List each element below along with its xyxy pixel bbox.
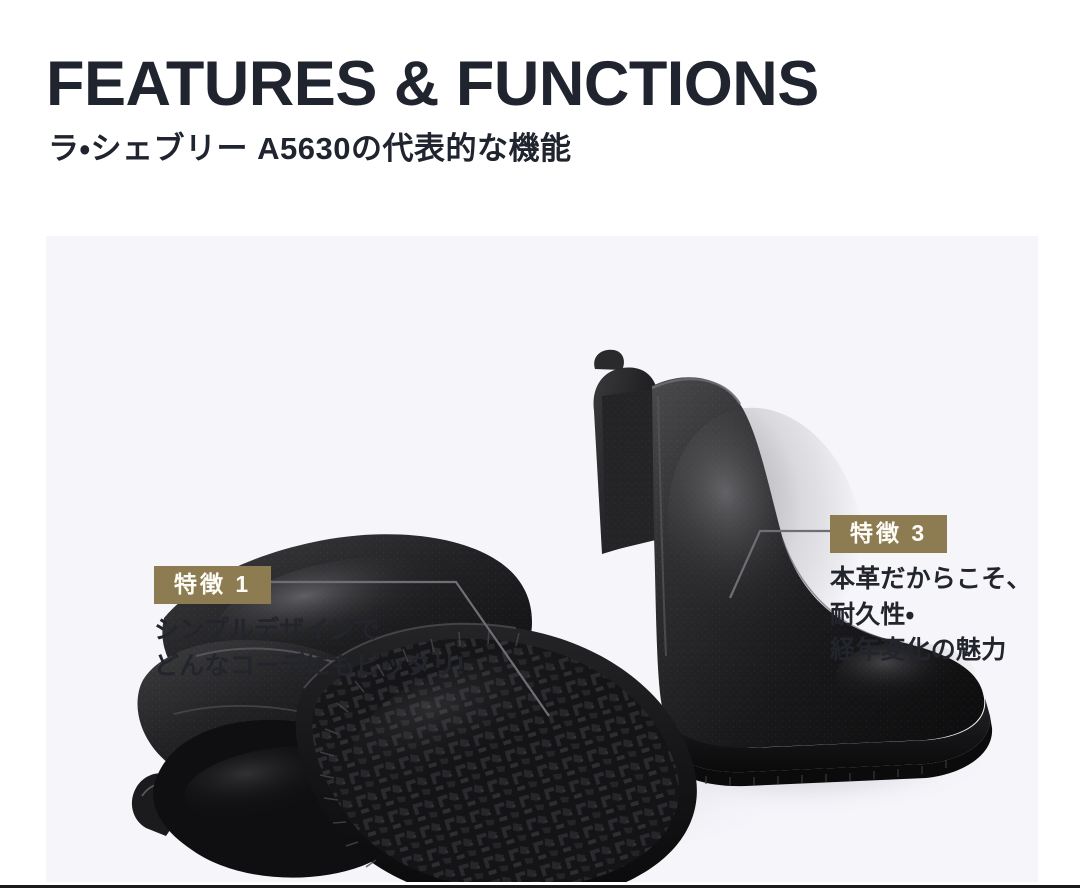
callout-3-text: 本革だからこそ、 耐久性・ 経年変化の魅力	[830, 562, 1032, 669]
page-header: FEATURES & FUNCTIONS ラ・シェブリー A5630の代表的な機…	[46, 52, 1026, 167]
callout-1-text: シンプルデザインで どんなコーデにもピッタリ!	[154, 613, 465, 684]
callout-1-line-2: どんなコーデにもピッタリ!	[154, 649, 465, 685]
bottom-rule	[0, 885, 1080, 888]
page-subtitle: ラ・シェブリー A5630の代表的な機能	[48, 130, 1026, 167]
page-title: FEATURES & FUNCTIONS	[46, 52, 1026, 116]
callout-feature-1: 特徴 1 シンプルデザインで どんなコーデにもピッタリ!	[154, 566, 465, 684]
callout-3-line-3: 経年変化の魅力	[830, 633, 1032, 669]
product-figure-panel: 特徴 1 シンプルデザインで どんなコーデにもピッタリ! 特徴 2 ツルツル路面…	[46, 236, 1038, 882]
callout-3-badge: 特徴 3	[830, 515, 947, 553]
callout-1-badge: 特徴 1	[154, 566, 271, 604]
callout-feature-3: 特徴 3 本革だからこそ、 耐久性・ 経年変化の魅力	[830, 515, 1032, 669]
callout-1-line-1: シンプルデザインで	[154, 613, 465, 649]
callout-3-line-1: 本革だからこそ、	[830, 562, 1032, 598]
callout-3-line-2: 耐久性・	[830, 598, 1032, 634]
